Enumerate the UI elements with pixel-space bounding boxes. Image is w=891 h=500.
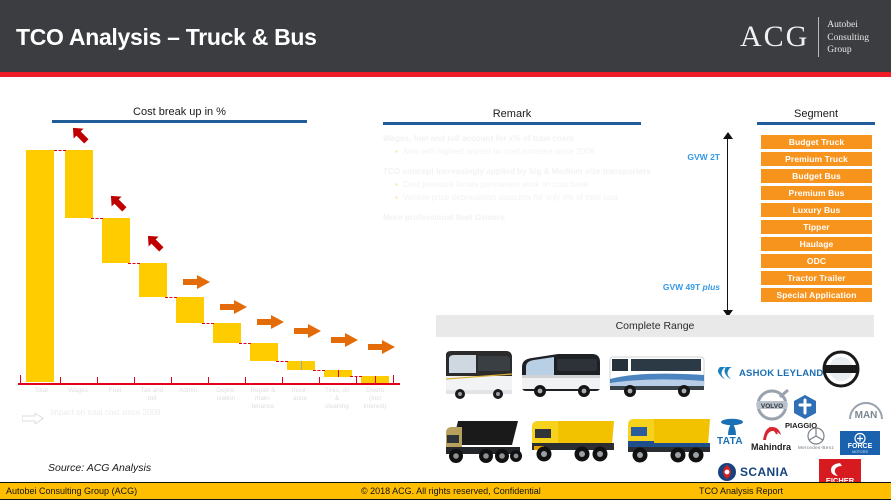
- brand-label-tata: TATA: [717, 436, 743, 447]
- impact-arrow-flat-tires: [331, 333, 357, 346]
- bar-marker-tires: [338, 370, 339, 377]
- axis-tick-4: [171, 377, 172, 385]
- acg-logo: ACG Autobei Consulting Group: [740, 17, 869, 57]
- remark-heading-2: TCO concept increasingly applied by big …: [383, 166, 653, 177]
- slide-header: TCO Analysis – Truck & Bus ACG Autobei C…: [0, 0, 891, 72]
- complete-range-title: Complete Range: [436, 315, 874, 337]
- gvw-bottom-label: GVW 49T plus: [644, 282, 720, 292]
- gvw-bottom-italic: plus: [703, 282, 720, 292]
- chart-panel-title: Cost break up in %: [52, 106, 307, 123]
- axis-tick-2: [97, 377, 98, 385]
- remark-panel: Wages, fuel and toll account for x% of t…: [383, 133, 653, 223]
- x-axis-label-insurance: Insur-ance: [281, 387, 319, 403]
- waterfall-connector-5: [202, 323, 214, 324]
- x-axis-label-divers: Divers(inclinterest): [355, 387, 395, 411]
- waterfall-connector-6: [239, 343, 251, 344]
- bullet-icon: ▪: [395, 179, 398, 190]
- brand-logo-force: FORCE MOTORS: [840, 431, 880, 460]
- x-axis-label-tax-toll: Tax andtoll: [133, 387, 171, 403]
- axis-tick-9: [356, 377, 357, 385]
- svg-text:MAN: MAN: [855, 410, 878, 421]
- brand-label-mahindra: Mahindra: [751, 442, 791, 452]
- brand-logo-man: MAN: [848, 393, 884, 426]
- remark-bullet-1-1: ▪ Also with highest impact on cost incre…: [383, 146, 653, 157]
- footer-right-text: TCO Analysis Report: [699, 486, 783, 496]
- segment-item-premium-truck[interactable]: Premium Truck: [760, 151, 873, 167]
- gvw-top-label: GVW 2T: [672, 152, 720, 162]
- segment-panel-title: Segment: [757, 108, 875, 125]
- axis-tick-6: [245, 377, 246, 385]
- segment-item-special-application[interactable]: Special Application: [760, 287, 873, 303]
- impact-arrow-flat-depreciation: [220, 300, 246, 313]
- brand-logo-nissan: [822, 350, 860, 393]
- segment-item-budget-bus[interactable]: Budget Bus: [760, 168, 873, 184]
- x-axis-label-tires-oil-cleaning: Tires, oil&cleaning: [318, 387, 356, 411]
- remark-heading-1: Wages, fuel and toll account for x% of t…: [383, 133, 653, 144]
- waterfall-bar-repair-maintenance: [250, 343, 278, 361]
- x-axis-label-depreciation: Depre-ciation: [207, 387, 245, 403]
- slide-root: TCO Analysis – Truck & Bus ACG Autobei C…: [0, 0, 891, 500]
- logo-line-1: Autobei: [827, 19, 869, 32]
- page-title: TCO Analysis – Truck & Bus: [16, 24, 317, 51]
- bullet-icon: ▪: [395, 192, 398, 203]
- logo-line-3: Group: [827, 44, 869, 57]
- waterfall-bar-tax-toll: [139, 263, 167, 297]
- segment-item-tipper[interactable]: Tipper: [760, 219, 873, 235]
- axis-tick-5: [208, 377, 209, 385]
- remark-panel-title: Remark: [383, 108, 641, 125]
- remark-panel-title-text: Remark: [383, 108, 641, 122]
- axis-tick-8: [319, 377, 320, 385]
- footer-center-text: © 2018 ACG. All rights reserved, Confide…: [361, 486, 541, 496]
- impact-arrow-flat-insurance: [294, 324, 320, 337]
- waterfall-connector-3: [128, 263, 140, 264]
- vehicle-intercity-coach-bus: [518, 351, 604, 406]
- chart-panel-title-text: Cost break up in %: [52, 106, 307, 120]
- brand-logo-ashok-leyland: [716, 365, 738, 386]
- axis-tick-7: [282, 377, 283, 385]
- waterfall-bar-wages: [65, 150, 93, 218]
- bar-marker-insurance: [301, 361, 302, 370]
- svg-text:FORCE: FORCE: [848, 443, 873, 450]
- vehicle-blue-yellow-tipper-truck: [622, 413, 714, 474]
- x-axis-label-wages: Wages: [59, 387, 97, 395]
- x-axis-label-fuel: Fuel: [96, 387, 134, 395]
- impact-arrow-up-wages: [70, 125, 87, 142]
- chart-legend-impact: Impact on total cost since 2008: [22, 408, 162, 429]
- segment-item-premium-bus[interactable]: Premium Bus: [760, 185, 873, 201]
- remark-bullet-2-1: ▪ Cost pressure forces permanent work on…: [383, 179, 653, 190]
- waterfall-connector-7: [276, 361, 288, 362]
- bar-marker-divers: [375, 376, 376, 383]
- waterfall-bar-admin: [176, 297, 204, 323]
- logo-divider: [818, 17, 819, 57]
- segment-item-luxury-bus[interactable]: Luxury Bus: [760, 202, 873, 218]
- waterfall-connector-4: [165, 297, 177, 298]
- segment-list: Budget Truck Premium Truck Budget Bus Pr…: [760, 134, 873, 304]
- logo-subtext: Autobei Consulting Group: [827, 17, 869, 57]
- svg-text:MOTORS: MOTORS: [852, 450, 868, 454]
- segment-panel-rule: [757, 122, 875, 125]
- gvw-arrow-up-icon: [723, 132, 733, 139]
- waterfall-connector-1: [54, 150, 66, 151]
- brand-label-scania: SCANIA: [740, 465, 788, 479]
- brand-label-mercedes-benz: Mercedes-Benz: [798, 445, 834, 450]
- waterfall-connector-8: [313, 370, 325, 371]
- axis-cap-left: [20, 375, 21, 385]
- axis-tick-1: [60, 377, 61, 385]
- remark-bullet-text: Cost pressure forces permanent work on c…: [403, 179, 588, 190]
- axis-cap-right: [393, 375, 394, 385]
- vehicle-luxury-coach-bus: [440, 349, 520, 406]
- footer-left-text: Autobei Consulting Group (ACG): [6, 486, 137, 496]
- impact-arrow-up-tax-toll: [145, 233, 162, 250]
- segment-item-tractor-trailer[interactable]: Tractor Trailer: [760, 270, 873, 286]
- x-axis-label-total: Total: [22, 387, 60, 395]
- axis-tick-3: [134, 377, 135, 385]
- waterfall-connector-2: [91, 218, 103, 219]
- chart-x-axis: [18, 383, 400, 385]
- source-note: Source: ACG Analysis: [48, 462, 151, 474]
- impact-arrow-flat-admin: [183, 275, 209, 288]
- remark-bullet-text: Also with highest impact on cost increas…: [403, 146, 595, 157]
- logo-line-2: Consulting: [827, 32, 869, 45]
- gvw-bottom-main: GVW 49T: [663, 282, 703, 292]
- legend-arrow-icon: [22, 411, 44, 429]
- impact-arrow-flat-repair-maintenance: [257, 315, 283, 328]
- waterfall-bar-total: [26, 150, 54, 382]
- vehicle-black-tipper-truck: [442, 415, 526, 474]
- impact-arrow-up-fuel: [108, 193, 125, 210]
- svg-text:VOLVO: VOLVO: [761, 403, 783, 410]
- waterfall-bar-depreciation: [213, 323, 241, 343]
- impact-arrow-flat-divers: [368, 340, 394, 353]
- brand-label-ashok-leyland: ASHOK LEYLAND: [739, 368, 823, 379]
- slide-footer: Autobei Consulting Group (ACG) © 2018 AC…: [0, 482, 891, 500]
- complete-range-panel: Complete Range: [436, 315, 874, 480]
- complete-range-body: ASHOK LEYLAND VOLVO: [436, 337, 874, 480]
- remark-heading-3: More professional fleet Owners: [383, 212, 653, 223]
- header-accent-rule: [0, 72, 891, 77]
- segment-item-haulage[interactable]: Haulage: [760, 236, 873, 252]
- remark-bullet-text: Vehicle price depreciation accounts for …: [403, 192, 618, 203]
- segment-item-budget-truck[interactable]: Budget Truck: [760, 134, 873, 150]
- segment-item-odc[interactable]: ODC: [760, 253, 873, 269]
- x-axis-label-repair-maintenance: Repair &main-tenance: [244, 387, 282, 411]
- vehicle-city-transit-bus: [608, 353, 706, 404]
- bullet-icon: ▪: [395, 146, 398, 157]
- cost-breakup-waterfall-chart: Total Wages Fuel Tax andtoll Admin. Depr…: [18, 135, 400, 385]
- x-axis-label-admin: Admin.: [170, 387, 208, 395]
- legend-impact-text: Impact on total cost since 2008: [50, 408, 160, 418]
- segment-panel-title-text: Segment: [757, 108, 875, 122]
- gvw-axis-line: [727, 136, 728, 312]
- vehicle-yellow-tipper-truck: [528, 413, 620, 474]
- waterfall-bar-fuel: [102, 218, 130, 263]
- remark-panel-rule: [383, 122, 641, 125]
- remark-bullet-2-2: ▪ Vehicle price depreciation accounts fo…: [383, 192, 653, 203]
- chart-panel-rule: [52, 120, 307, 123]
- logo-mark: ACG: [740, 17, 818, 57]
